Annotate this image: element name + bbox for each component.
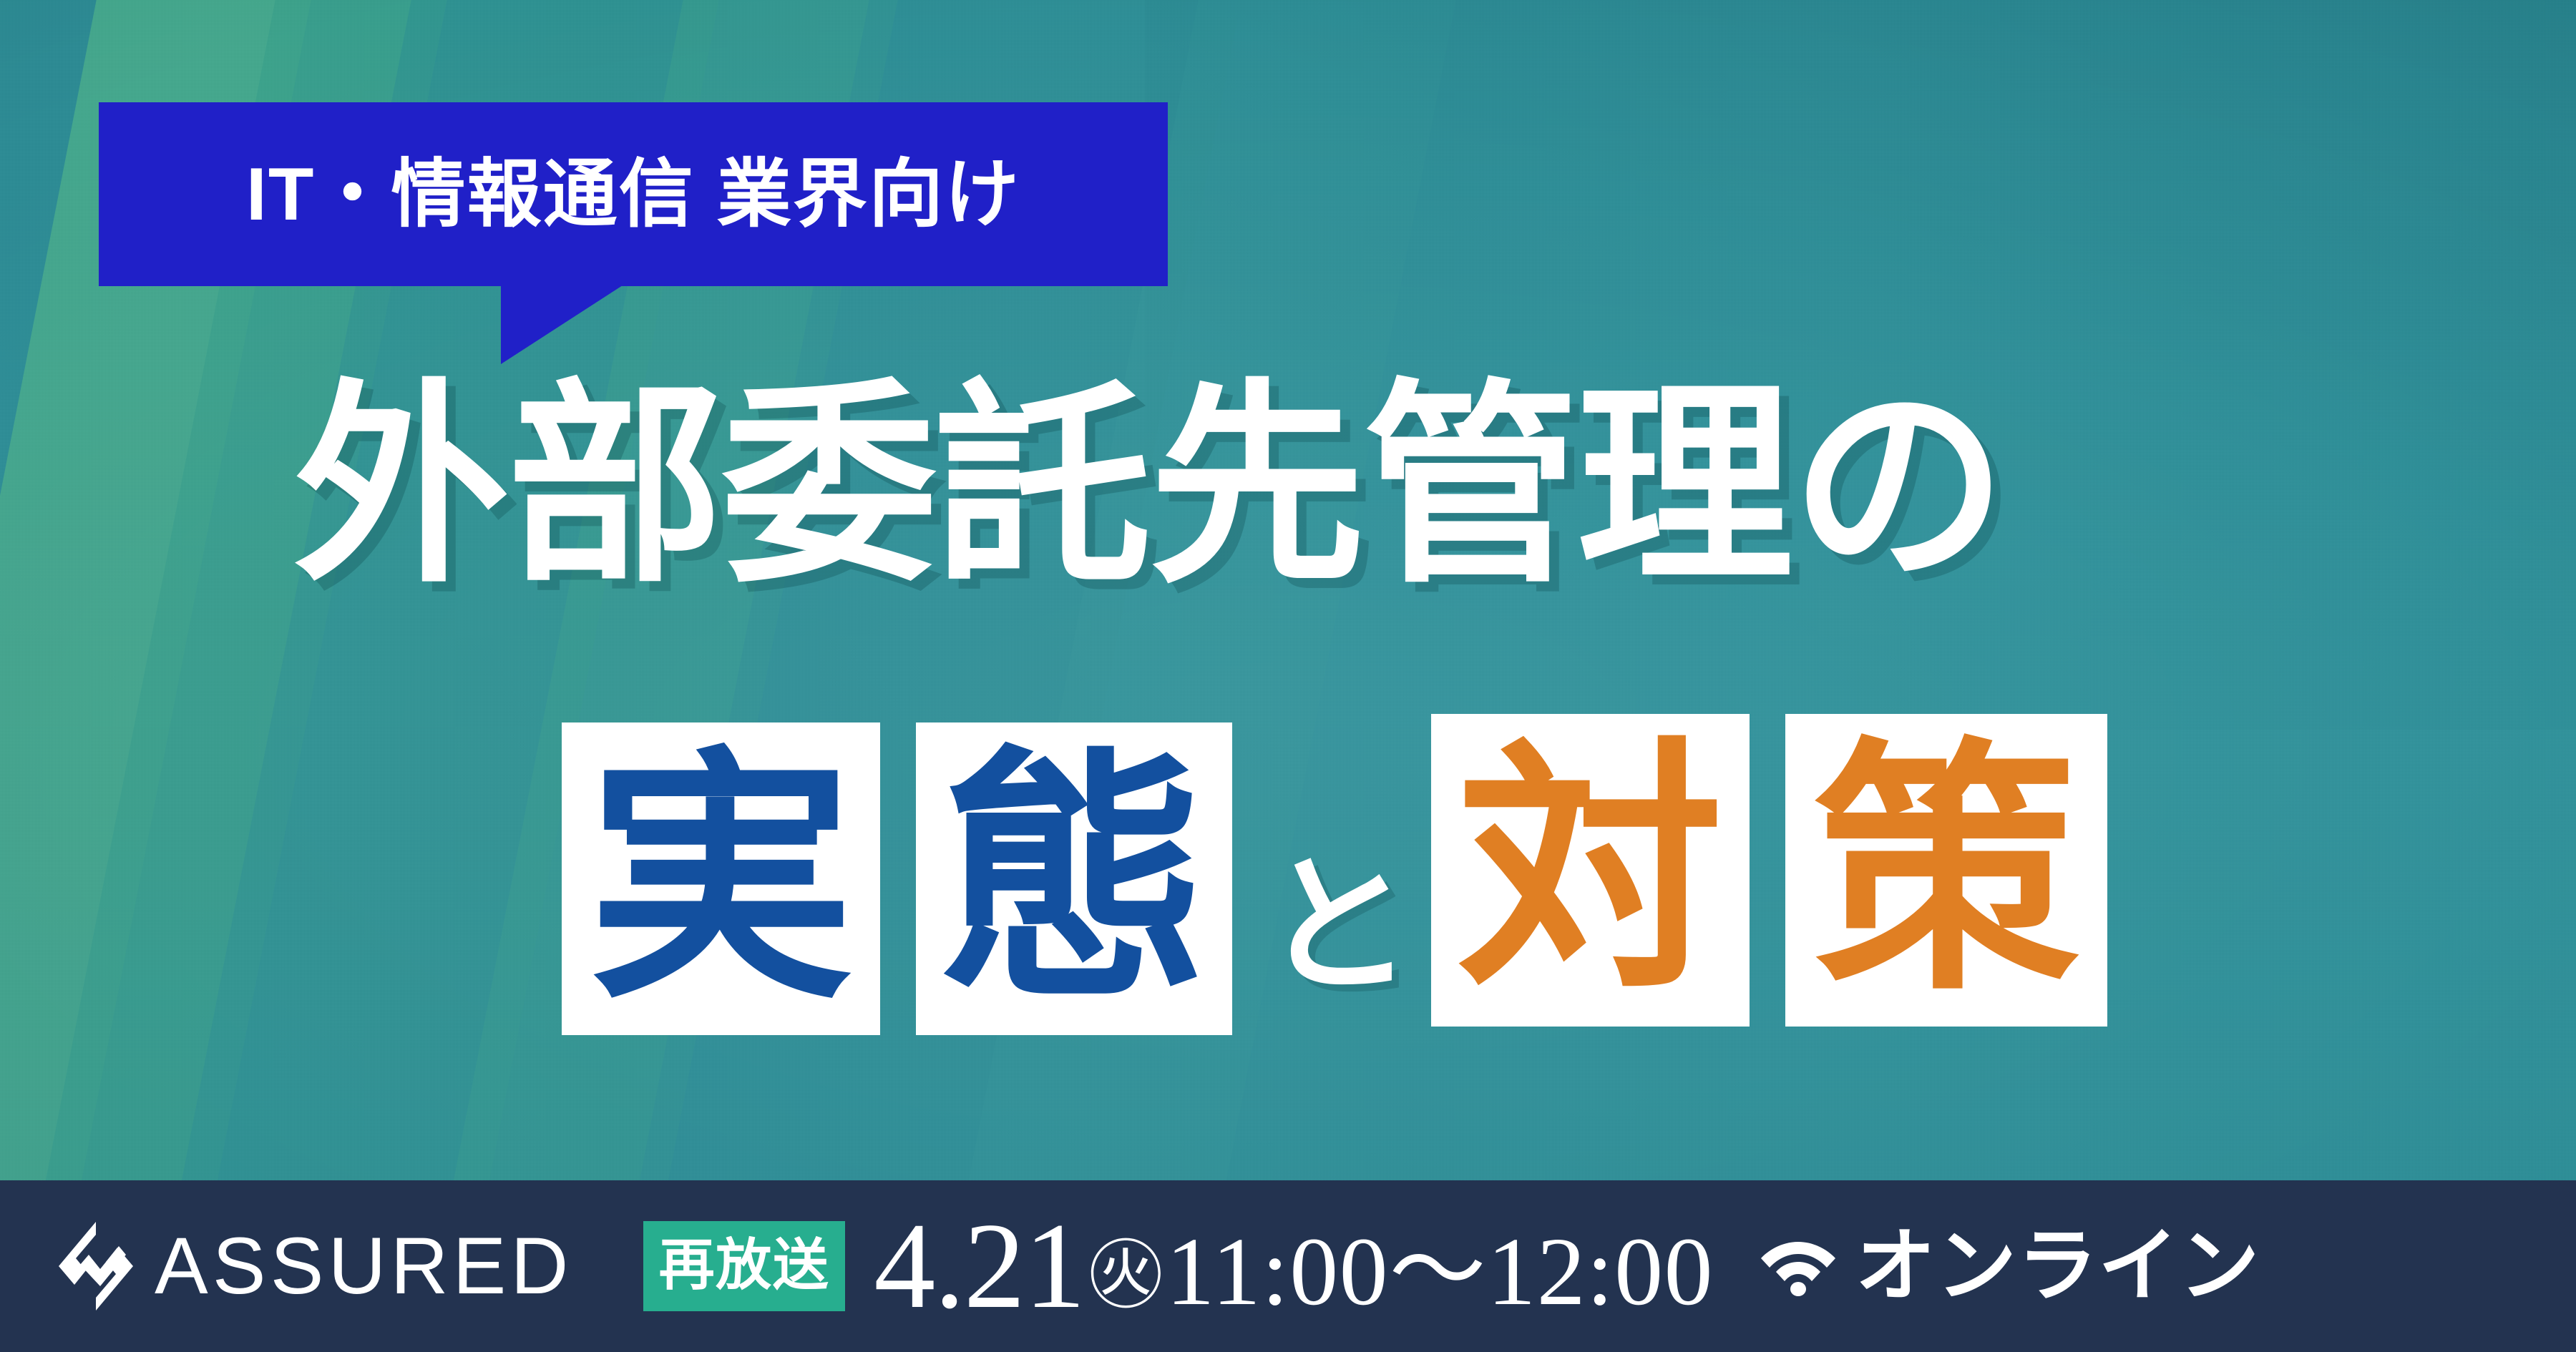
event-weekday: ㊋ [1088, 1239, 1163, 1313]
page-title-line-1: 外部委託先管理の [293, 343, 2383, 630]
assured-diamond-check-icon [57, 1220, 135, 1312]
audience-tag-label: IT・情報通信 業界向け [246, 157, 1020, 232]
event-time: 11:00〜12:00 [1166, 1223, 1713, 1321]
assured-wordmark: ASSURED [155, 1226, 573, 1306]
venue-group: オンライン [1761, 1226, 2260, 1306]
schedule-group: 再放送 4.21 ㊋ 11:00〜12:00 [643, 1205, 1714, 1328]
title-conjunction-char: と [1263, 851, 1413, 1001]
page-title-line-2: 実 態 と 対 策 [562, 708, 2150, 1044]
title-chip-jittai-1: 実 [562, 722, 880, 1035]
title-chip-char: 対 [1458, 738, 1724, 1004]
title-chip-taisaku-1: 対 [1431, 714, 1750, 1027]
page-title-line-1-text: 外部委託先管理の [293, 378, 2005, 594]
venue-label: オンライン [1855, 1226, 2260, 1306]
title-chip-char: 策 [1813, 738, 2079, 1004]
wifi-icon [1761, 1236, 1835, 1296]
assured-logo: ASSURED [57, 1220, 573, 1312]
status-badge: 再放送 [643, 1221, 846, 1311]
title-chip-jittai-2: 態 [916, 722, 1232, 1035]
footer-bar: ASSURED 再放送 4.21 ㊋ 11:00〜12:00 オンライン [0, 1180, 2576, 1352]
title-chip-taisaku-2: 策 [1785, 714, 2107, 1027]
title-chip-char: 実 [588, 746, 854, 1012]
audience-tag: IT・情報通信 業界向け [99, 102, 1168, 286]
webinar-promo-banner: IT・情報通信 業界向け 外部委託先管理の 実 態 と 対 策 A [0, 0, 2576, 1352]
title-chip-char: 態 [941, 746, 1207, 1012]
title-conjunction: と [1259, 837, 1417, 1016]
event-date: 4.21 [874, 1205, 1084, 1328]
